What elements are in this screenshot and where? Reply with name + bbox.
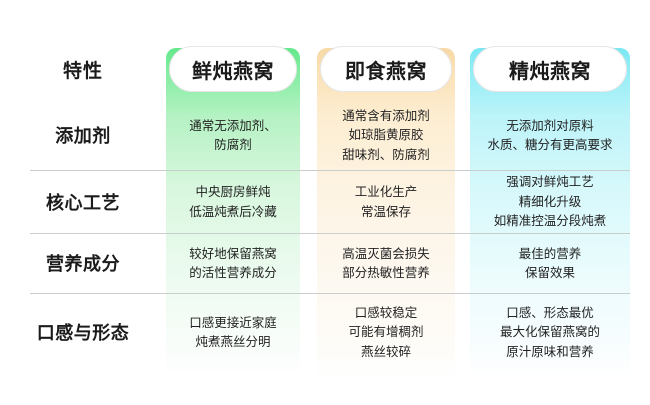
cell-text: 中央厨房鲜炖 低温炖煮后冷藏	[189, 182, 277, 221]
cell-taste-form-ji-shi: 口感较稳定 可能有增稠剂 燕丝较碎	[317, 293, 455, 371]
column-header-label-ji-shi: 即食燕窝	[345, 55, 427, 84]
row-label-nutrition: 营养成分	[0, 233, 166, 293]
cell-text: 工业化生产 常温保存	[355, 182, 418, 221]
cell-core-process-xian-dun: 中央厨房鲜炖 低温炖煮后冷藏	[166, 170, 300, 233]
column-header-ji-shi: 即食燕窝	[320, 46, 452, 92]
row-label-taste-form: 口感与形态	[0, 293, 166, 371]
column-header-label-xian-dun: 鲜炖燕窝	[192, 55, 274, 84]
cell-text: 高温灭菌会损失 部分热敏性营养	[342, 244, 430, 283]
cell-nutrition-jing-dun: 最佳的营养 保留效果	[470, 233, 630, 293]
comparison-table: 特性 鲜炖燕窝 即食燕窝 精炖燕窝 添加剂 通常无添加剂、 防腐剂 通常含有添加…	[0, 0, 650, 405]
row-label-text-core-process: 核心工艺	[46, 189, 120, 215]
cell-text: 口感、形态最优 最大化保留燕窝的 原汁原味和营养	[500, 303, 600, 361]
cell-text: 强调对鲜炖工艺 精细化升级 如精准控温分段炖煮	[494, 172, 607, 230]
column-header-jing-dun: 精炖燕窝	[473, 46, 627, 92]
cell-text: 口感更接近家庭 炖煮燕丝分明	[189, 313, 277, 352]
cell-additives-jing-dun: 无添加剂对原料 水质、糖分有更高要求	[470, 100, 630, 170]
cell-text: 较好地保留燕窝 的活性营养成分	[189, 244, 277, 283]
cell-text: 口感较稳定 可能有增稠剂 燕丝较碎	[348, 303, 423, 361]
feature-column-header: 特性	[0, 46, 166, 92]
cell-additives-ji-shi: 通常含有添加剂 如琼脂黄原胶 甜味剂、防腐剂	[317, 100, 455, 170]
cell-nutrition-ji-shi: 高温灭菌会损失 部分热敏性营养	[317, 233, 455, 293]
cell-additives-xian-dun: 通常无添加剂、 防腐剂	[166, 100, 300, 170]
cell-core-process-jing-dun: 强调对鲜炖工艺 精细化升级 如精准控温分段炖煮	[470, 170, 630, 233]
column-header-xian-dun: 鲜炖燕窝	[169, 46, 297, 92]
row-separator-1	[30, 170, 630, 171]
cell-text: 通常含有添加剂 如琼脂黄原胶 甜味剂、防腐剂	[342, 106, 430, 164]
cell-text: 无添加剂对原料 水质、糖分有更高要求	[487, 116, 612, 155]
cell-core-process-ji-shi: 工业化生产 常温保存	[317, 170, 455, 233]
cell-taste-form-jing-dun: 口感、形态最优 最大化保留燕窝的 原汁原味和营养	[470, 293, 630, 371]
row-label-text-taste-form: 口感与形态	[37, 319, 130, 345]
cell-taste-form-xian-dun: 口感更接近家庭 炖煮燕丝分明	[166, 293, 300, 371]
row-separator-2	[30, 233, 630, 234]
cell-nutrition-xian-dun: 较好地保留燕窝 的活性营养成分	[166, 233, 300, 293]
cell-text: 通常无添加剂、 防腐剂	[189, 116, 277, 155]
row-label-additives: 添加剂	[0, 100, 166, 170]
feature-column-header-label: 特性	[63, 56, 103, 83]
row-label-core-process: 核心工艺	[0, 170, 166, 233]
column-header-label-jing-dun: 精炖燕窝	[509, 55, 591, 84]
row-label-text-nutrition: 营养成分	[46, 250, 120, 276]
row-label-text-additives: 添加剂	[55, 122, 111, 148]
cell-text: 最佳的营养 保留效果	[519, 244, 582, 283]
row-separator-3	[30, 293, 630, 294]
